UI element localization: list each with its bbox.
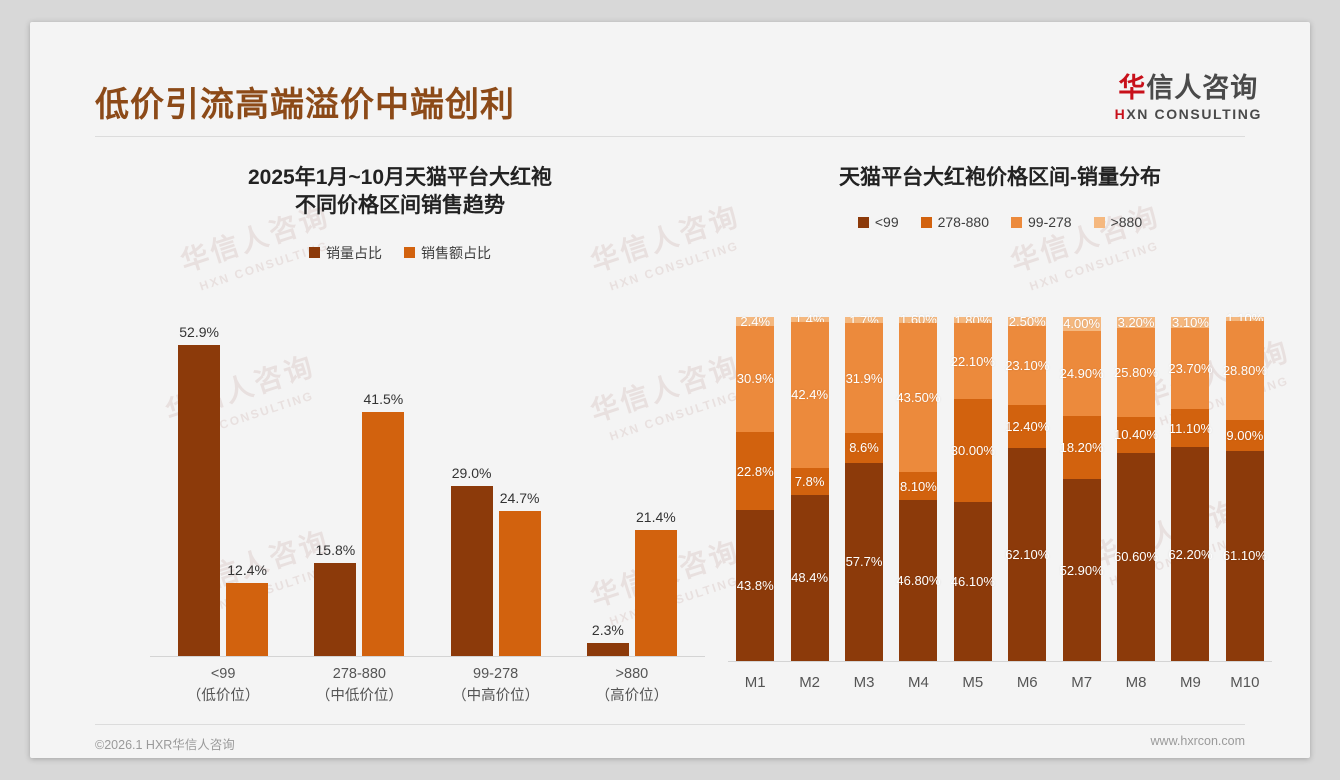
- x-tick-label: >880（高价位）: [564, 664, 700, 708]
- legend-item-3[interactable]: >880: [1094, 214, 1143, 230]
- legend-label: <99: [875, 214, 899, 230]
- stacked-bar[interactable]: 1.10%28.80%9.00%61.10%: [1226, 317, 1264, 661]
- x-tick-label: M6: [1000, 674, 1054, 691]
- page-title: 低价引流高端溢价中端创利: [95, 77, 515, 126]
- x-tick-label: 99-278（中高价位）: [428, 664, 564, 708]
- stack-segment-label: 31.9%: [846, 371, 883, 386]
- stack-segment-label: 30.9%: [737, 371, 774, 386]
- stack-segment-label: 12.40%: [1005, 419, 1049, 434]
- bar-wrapper: 15.8%: [312, 327, 358, 656]
- legend-swatch-icon: [1011, 217, 1022, 228]
- legend-swatch-icon: [921, 217, 932, 228]
- stack-segment-1[interactable]: 8.10%: [899, 472, 937, 500]
- bar-group: 15.8%41.5%: [291, 327, 427, 656]
- bar-1[interactable]: 24.7%: [499, 511, 541, 656]
- left-chart-plot: 52.9%12.4%15.8%41.5%29.0%24.7%2.3%21.4%: [90, 327, 710, 657]
- stack-segment-3[interactable]: 2.4%: [736, 317, 774, 325]
- stack-segment-label: 11.10%: [1169, 421, 1212, 436]
- bar-wrapper: 41.5%: [360, 327, 406, 656]
- stack-segment-1[interactable]: 30.00%: [954, 399, 992, 502]
- bar-value-label: 2.3%: [592, 622, 624, 638]
- x-tick-sublabel: （低价位）: [155, 686, 291, 708]
- stack-segment-0[interactable]: 60.60%: [1117, 453, 1155, 661]
- legend-label: >880: [1111, 214, 1143, 230]
- stack-segment-label: 43.50%: [896, 390, 940, 405]
- left-chart-title-line1: 2025年1月~10月天猫平台大红袍: [90, 164, 710, 192]
- stack-segment-label: 61.10%: [1223, 548, 1267, 563]
- legend-swatch-icon: [858, 217, 869, 228]
- stacked-bar-group: 4.00%24.90%18.20%52.90%: [1054, 317, 1108, 661]
- stacked-bar[interactable]: 3.20%25.80%10.40%60.60%: [1117, 317, 1155, 661]
- logo-english-rest: XN CONSULTING: [1126, 106, 1262, 122]
- legend-item-2[interactable]: 99-278: [1011, 214, 1072, 230]
- stack-segment-2[interactable]: 31.9%: [845, 323, 883, 433]
- x-tick-sublabel: （中低价位）: [291, 686, 427, 708]
- x-tick-range: <99: [155, 664, 291, 686]
- stacked-bar[interactable]: 3.10%23.70%11.10%62.20%: [1171, 317, 1209, 661]
- bar-1[interactable]: 41.5%: [362, 412, 404, 656]
- x-tick-range: >880: [564, 664, 700, 686]
- bar-wrapper: 12.4%: [224, 327, 270, 656]
- stacked-bar[interactable]: 1.4%42.4%7.8%48.4%: [791, 317, 829, 661]
- stack-segment-2[interactable]: 24.90%: [1063, 331, 1101, 417]
- stack-segment-1[interactable]: 10.40%: [1117, 417, 1155, 453]
- stacked-bar-group: 3.20%25.80%10.40%60.60%: [1109, 317, 1163, 661]
- stack-segment-3[interactable]: 4.00%: [1063, 317, 1101, 331]
- stack-segment-2[interactable]: 42.4%: [791, 322, 829, 468]
- stacked-bar[interactable]: 1.7%31.9%8.6%57.7%: [845, 317, 883, 661]
- stack-segment-0[interactable]: 52.90%: [1063, 479, 1101, 661]
- stack-segment-label: 24.90%: [1060, 366, 1104, 381]
- right-chart-title: 天猫平台大红袍价格区间-销量分布: [720, 152, 1280, 192]
- stack-segment-label: 46.80%: [896, 573, 940, 588]
- stack-segment-label: 9.00%: [1226, 428, 1263, 443]
- stack-segment-0[interactable]: 61.10%: [1226, 451, 1264, 661]
- bar-0[interactable]: 29.0%: [451, 486, 493, 656]
- legend-swatch-icon: [309, 247, 320, 258]
- stack-segment-label: 28.80%: [1223, 363, 1267, 378]
- stack-segment-label: 62.10%: [1005, 547, 1049, 562]
- stack-segment-label: 8.6%: [849, 440, 879, 455]
- stack-segment-2[interactable]: 30.9%: [736, 326, 774, 432]
- stack-segment-1[interactable]: 7.8%: [791, 468, 829, 495]
- stacked-bar[interactable]: 4.00%24.90%18.20%52.90%: [1063, 317, 1101, 661]
- x-tick-label: M2: [782, 674, 836, 691]
- bar-value-label: 21.4%: [636, 509, 676, 525]
- left-chart-title-line2: 不同价格区间销售趋势: [90, 192, 710, 220]
- legend-item-1[interactable]: 278-880: [921, 214, 989, 230]
- right-chart-legend: <99278-88099-278>880: [720, 214, 1280, 230]
- x-tick-label: 278-880（中低价位）: [291, 664, 427, 708]
- chart-panel-price-distribution: 天猫平台大红袍价格区间-销量分布 <99278-88099-278>880 2.…: [720, 152, 1280, 712]
- stacked-bar[interactable]: 2.50%23.10%12.40%62.10%: [1008, 317, 1046, 661]
- stacked-bar-group: 1.10%28.80%9.00%61.10%: [1218, 317, 1272, 661]
- legend-item-1[interactable]: 销售额占比: [404, 243, 491, 263]
- bar-1[interactable]: 21.4%: [635, 530, 677, 656]
- x-tick-label: M4: [891, 674, 945, 691]
- stacked-bar-group: 1.60%43.50%8.10%46.80%: [891, 317, 945, 661]
- stack-segment-label: 23.70%: [1168, 361, 1212, 376]
- bar-value-label: 29.0%: [452, 465, 492, 481]
- footer-copyright: ©2026.1 HXR华信人咨询: [95, 734, 235, 753]
- stack-segment-1[interactable]: 8.6%: [845, 433, 883, 463]
- stack-segment-label: 4.00%: [1063, 316, 1100, 331]
- footer-divider: [95, 724, 1245, 725]
- stacked-bar-group: 1.4%42.4%7.8%48.4%: [782, 317, 836, 661]
- x-tick-label: M7: [1054, 674, 1108, 691]
- stacked-bar[interactable]: 1.60%43.50%8.10%46.80%: [899, 317, 937, 661]
- stack-segment-1[interactable]: 18.20%: [1063, 416, 1101, 479]
- bar-wrapper: 29.0%: [449, 327, 495, 656]
- bar-wrapper: 21.4%: [633, 327, 679, 656]
- stacked-bar-group: 2.4%30.9%22.8%43.8%: [728, 317, 782, 661]
- stack-segment-label: 22.10%: [951, 354, 995, 369]
- slide-header: 低价引流高端溢价中端创利 华信人咨询 HXN CONSULTING: [30, 22, 1310, 140]
- bar-value-label: 15.8%: [316, 542, 356, 558]
- left-chart-axis-line: [150, 656, 705, 657]
- bar-value-label: 12.4%: [227, 562, 267, 578]
- stack-segment-label: 25.80%: [1114, 365, 1158, 380]
- legend-label: 99-278: [1028, 214, 1072, 230]
- logo-chinese-text: 华信人咨询: [1115, 74, 1262, 102]
- stack-segment-0[interactable]: 62.20%: [1171, 447, 1209, 661]
- legend-swatch-icon: [1094, 217, 1105, 228]
- stack-segment-label: 22.8%: [737, 464, 774, 479]
- legend-swatch-icon: [404, 247, 415, 258]
- stacked-bar-group: 3.10%23.70%11.10%62.20%: [1163, 317, 1217, 661]
- x-tick-label: M9: [1163, 674, 1217, 691]
- stack-segment-1[interactable]: 12.40%: [1008, 405, 1046, 448]
- x-tick-sublabel: （高价位）: [564, 686, 700, 708]
- stack-segment-label: 43.8%: [737, 578, 774, 593]
- x-tick-label: M5: [946, 674, 1000, 691]
- stacked-bar[interactable]: 1.80%22.10%30.00%46.10%: [954, 317, 992, 661]
- left-chart-x-axis: <99（低价位）278-880（中低价位）99-278（中高价位）>880（高价…: [155, 664, 700, 708]
- legend-item-0[interactable]: <99: [858, 214, 899, 230]
- stack-segment-label: 8.10%: [900, 479, 937, 494]
- bar-value-label: 24.7%: [500, 490, 540, 506]
- bar-0[interactable]: 15.8%: [314, 563, 356, 656]
- stack-segment-label: 52.90%: [1060, 563, 1104, 578]
- logo-english-text: HXN CONSULTING: [1115, 106, 1262, 122]
- bar-wrapper: 24.7%: [497, 327, 543, 656]
- x-tick-label: <99（低价位）: [155, 664, 291, 708]
- logo-chinese-rest: 信人咨询: [1146, 73, 1258, 103]
- chart-panel-sales-trend: 2025年1月~10月天猫平台大红袍 不同价格区间销售趋势 销量占比销售额占比 …: [90, 152, 710, 712]
- left-chart-legend: 销量占比销售额占比: [90, 243, 710, 263]
- logo-english-first-char: H: [1115, 106, 1127, 122]
- x-tick-sublabel: （中高价位）: [428, 686, 564, 708]
- bar-wrapper: 2.3%: [585, 327, 631, 656]
- stack-segment-label: 7.8%: [795, 474, 825, 489]
- left-chart-title: 2025年1月~10月天猫平台大红袍 不同价格区间销售趋势: [90, 152, 710, 221]
- logo-chinese-first-char: 华: [1118, 73, 1146, 103]
- stack-segment-0[interactable]: 62.10%: [1008, 448, 1046, 661]
- x-tick-label: M3: [837, 674, 891, 691]
- x-tick-range: 278-880: [291, 664, 427, 686]
- legend-label: 278-880: [938, 214, 989, 230]
- stacked-bar-group: 1.80%22.10%30.00%46.10%: [946, 317, 1000, 661]
- right-chart-x-axis: M1M2M3M4M5M6M7M8M9M10: [728, 674, 1272, 691]
- stack-segment-0[interactable]: 57.7%: [845, 463, 883, 661]
- right-chart-plot: 2.4%30.9%22.8%43.8%1.4%42.4%7.8%48.4%1.7…: [720, 317, 1280, 662]
- company-logo: 华信人咨询 HXN CONSULTING: [1115, 74, 1262, 122]
- stack-segment-3[interactable]: 2.50%: [1008, 317, 1046, 326]
- stack-segment-2[interactable]: 43.50%: [899, 323, 937, 473]
- stack-segment-1[interactable]: 9.00%: [1226, 420, 1264, 451]
- x-tick-label: M8: [1109, 674, 1163, 691]
- stack-segment-2[interactable]: 25.80%: [1117, 328, 1155, 417]
- bar-value-label: 41.5%: [364, 391, 404, 407]
- bar-group: 29.0%24.7%: [428, 327, 564, 656]
- stack-segment-label: 60.60%: [1114, 549, 1158, 564]
- stack-segment-3[interactable]: 3.20%: [1117, 317, 1155, 328]
- slide: 低价引流高端溢价中端创利 华信人咨询 HXN CONSULTING 华信人咨询H…: [30, 22, 1310, 758]
- stack-segment-label: 48.4%: [791, 570, 828, 585]
- stacked-bar-group: 1.7%31.9%8.6%57.7%: [837, 317, 891, 661]
- stack-segment-0[interactable]: 48.4%: [791, 495, 829, 661]
- stack-segment-label: 57.7%: [846, 554, 883, 569]
- stack-segment-1[interactable]: 11.10%: [1171, 409, 1209, 447]
- bar-value-label: 52.9%: [179, 324, 219, 340]
- stack-segment-label: 42.4%: [791, 387, 828, 402]
- stack-segment-1[interactable]: 22.8%: [736, 432, 774, 510]
- bar-group: 52.9%12.4%: [155, 327, 291, 656]
- stack-segment-0[interactable]: 46.10%: [954, 502, 992, 661]
- bar-0[interactable]: 2.3%: [587, 643, 629, 657]
- x-tick-label: M10: [1218, 674, 1272, 691]
- header-divider: [95, 136, 1245, 137]
- stack-segment-2[interactable]: 28.80%: [1226, 321, 1264, 420]
- right-chart-title-text: 天猫平台大红袍价格区间-销量分布: [720, 164, 1280, 192]
- stack-segment-label: 30.00%: [951, 443, 995, 458]
- stacked-bar-group: 2.50%23.10%12.40%62.10%: [1000, 317, 1054, 661]
- legend-label: 销售额占比: [421, 243, 491, 263]
- bar-1[interactable]: 12.4%: [226, 583, 268, 656]
- footer-website: www.hxrcon.com: [1151, 734, 1245, 748]
- legend-item-0[interactable]: 销量占比: [309, 243, 382, 263]
- stack-segment-label: 23.10%: [1005, 358, 1049, 373]
- bar-group: 2.3%21.4%: [564, 327, 700, 656]
- x-tick-label: M1: [728, 674, 782, 691]
- stack-segment-2[interactable]: 23.10%: [1008, 326, 1046, 405]
- stack-segment-label: 18.20%: [1060, 440, 1104, 455]
- right-chart-axis-line: [728, 661, 1272, 662]
- stacked-bar[interactable]: 2.4%30.9%22.8%43.8%: [736, 317, 774, 661]
- bar-wrapper: 52.9%: [176, 327, 222, 656]
- legend-label: 销量占比: [326, 243, 382, 263]
- x-tick-range: 99-278: [428, 664, 564, 686]
- stack-segment-3[interactable]: 3.10%: [1171, 317, 1209, 328]
- stack-segment-0[interactable]: 43.8%: [736, 510, 774, 661]
- stack-segment-label: 10.40%: [1114, 427, 1158, 442]
- stack-segment-0[interactable]: 46.80%: [899, 500, 937, 661]
- stack-segment-label: 46.10%: [951, 574, 995, 589]
- stack-segment-label: 62.20%: [1168, 547, 1212, 562]
- stack-segment-2[interactable]: 22.10%: [954, 323, 992, 399]
- bar-0[interactable]: 52.9%: [178, 345, 220, 656]
- stack-segment-2[interactable]: 23.70%: [1171, 328, 1209, 409]
